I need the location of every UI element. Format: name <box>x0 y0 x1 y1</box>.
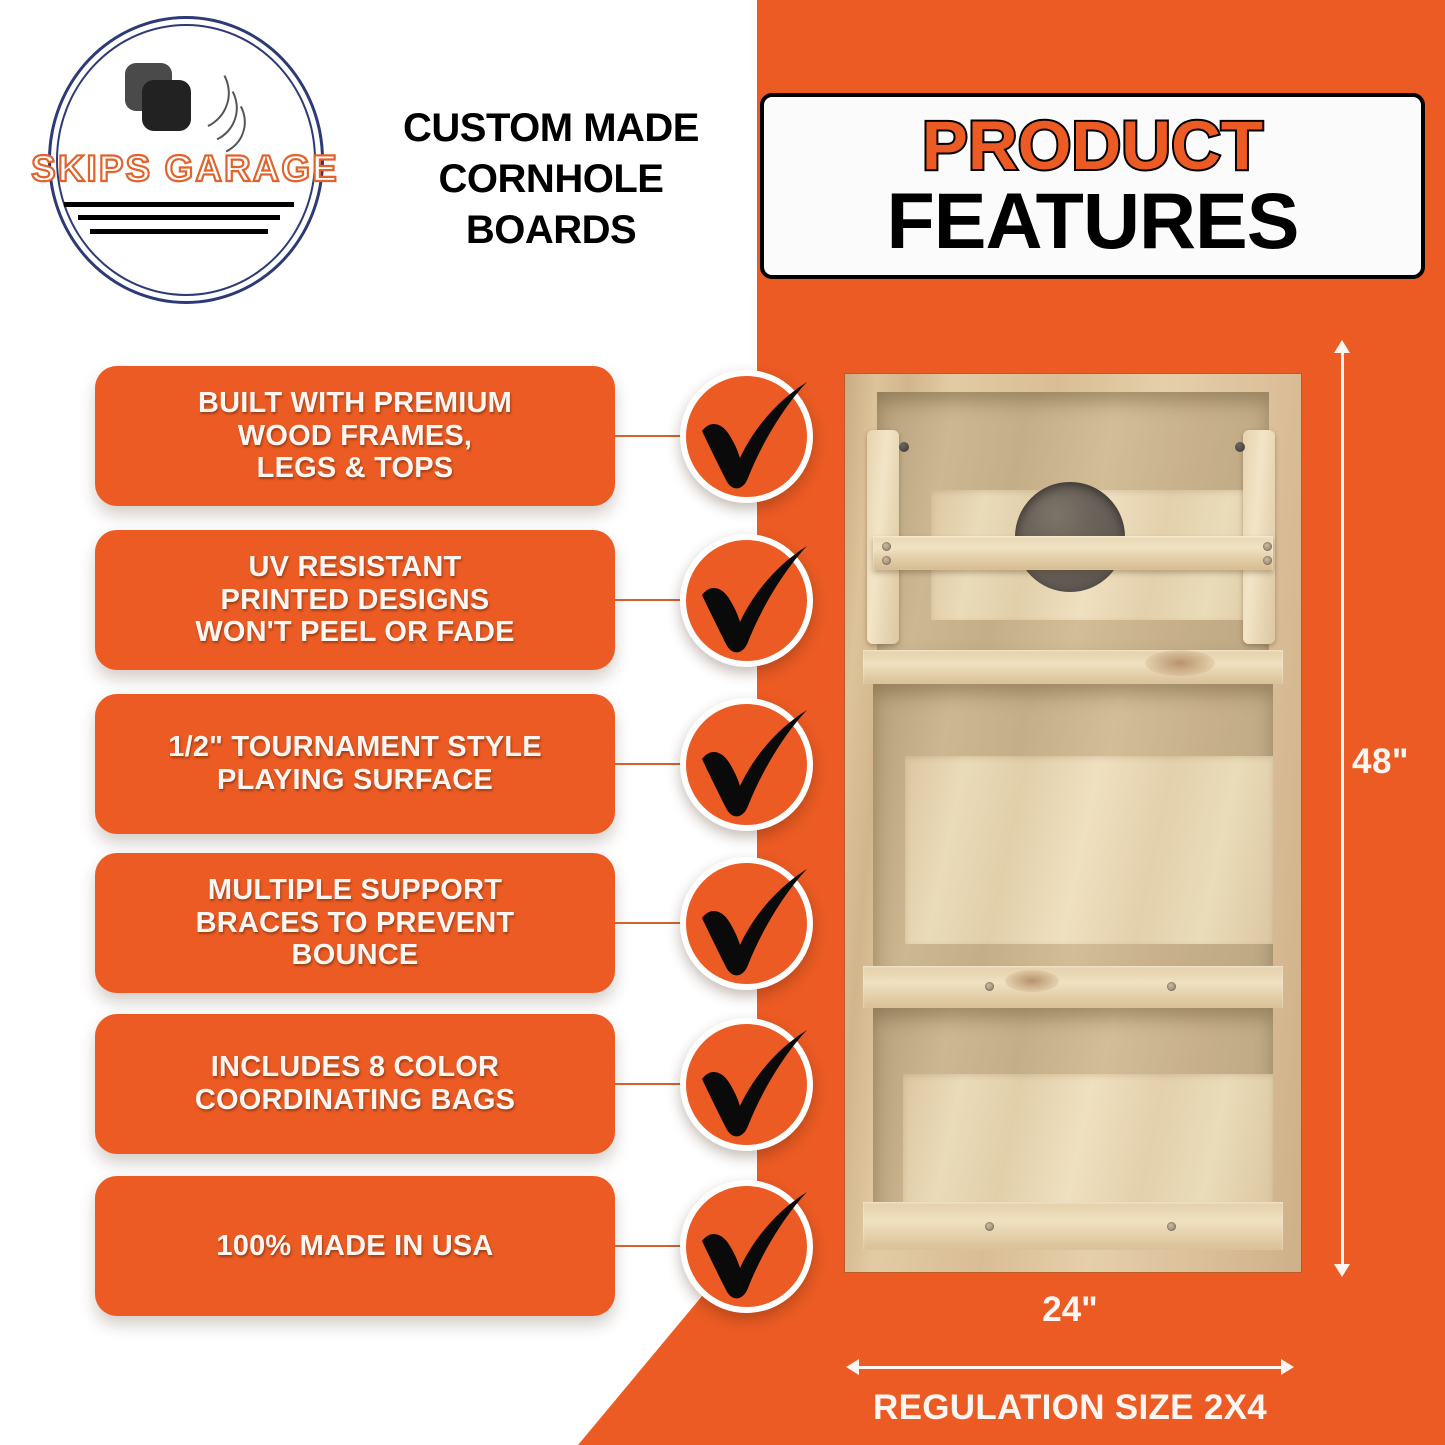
feature-pill: INCLUDES 8 COLORCOORDINATING BAGS <box>95 1014 615 1154</box>
check-icon <box>680 698 813 831</box>
logo-rule <box>78 215 280 220</box>
check-icon <box>680 534 813 667</box>
leg-bolt-right <box>1235 442 1245 452</box>
brace-screw <box>1167 982 1176 991</box>
feature-pill: UV RESISTANTPRINTED DESIGNSWON'T PEEL OR… <box>95 530 615 670</box>
check-icon <box>680 1018 813 1151</box>
width-dimension-arrow <box>858 1366 1282 1369</box>
page-title: CUSTOM MADE CORNHOLE BOARDS <box>352 103 750 257</box>
feature-row: INCLUDES 8 COLORCOORDINATING BAGS <box>0 1014 840 1154</box>
heading-features: FEATURES <box>887 182 1299 260</box>
brace-screw <box>985 982 994 991</box>
brace-screw <box>985 1222 994 1231</box>
feature-check-badge <box>680 1018 813 1151</box>
feature-pill: 1/2" TOURNAMENT STYLEPLAYING SURFACE <box>95 694 615 834</box>
support-brace-bottom <box>863 1202 1283 1250</box>
brace-screw <box>1263 542 1272 551</box>
page-title-line-2: CORNHOLE <box>352 154 750 205</box>
wood-knot <box>1005 970 1059 992</box>
feature-check-badge <box>680 1180 813 1313</box>
product-features-heading-box: PRODUCT FEATURES <box>760 93 1425 279</box>
check-icon <box>680 1180 813 1313</box>
board-middle-panel <box>905 756 1273 944</box>
logo-wordmark: SKIPS GARAGE <box>20 148 350 190</box>
brand-logo: SKIPS GARAGE <box>20 8 350 308</box>
feature-row: MULTIPLE SUPPORTBRACES TO PREVENTBOUNCE <box>0 853 840 993</box>
height-dimension-arrow <box>1341 352 1344 1265</box>
check-icon <box>680 370 813 503</box>
height-dimension-label: 48" <box>1352 742 1409 782</box>
infographic-canvas: SKIPS GARAGE CUSTOM MADE CORNHOLE BOARDS… <box>0 0 1445 1445</box>
check-icon <box>680 857 813 990</box>
support-brace-top <box>873 536 1273 570</box>
page-title-line-1: CUSTOM MADE <box>352 103 750 154</box>
heading-product: PRODUCT <box>922 112 1263 180</box>
feature-check-badge <box>680 857 813 990</box>
leg-bolt-left <box>899 442 909 452</box>
brace-screw <box>1263 556 1272 565</box>
feature-check-badge <box>680 370 813 503</box>
brace-screw <box>882 556 891 565</box>
board-bottom-panel <box>903 1074 1273 1204</box>
page-title-line-3: BOARDS <box>352 205 750 256</box>
product-photo-cornhole-board <box>845 374 1301 1272</box>
board-rail-top <box>863 650 1283 684</box>
brace-screw <box>1167 1222 1176 1231</box>
feature-row: 1/2" TOURNAMENT STYLEPLAYING SURFACE <box>0 694 840 834</box>
feature-pill: 100% MADE IN USA <box>95 1176 615 1316</box>
feature-pill: MULTIPLE SUPPORTBRACES TO PREVENTBOUNCE <box>95 853 615 993</box>
feature-check-badge <box>680 698 813 831</box>
logo-rule <box>64 202 294 207</box>
feature-check-badge <box>680 534 813 667</box>
logo-rule <box>90 229 268 234</box>
feature-row: 100% MADE IN USA <box>0 1176 840 1316</box>
regulation-size-note: REGULATION SIZE 2X4 <box>835 1388 1305 1428</box>
feature-row: BUILT WITH PREMIUMWOOD FRAMES,LEGS & TOP… <box>0 366 840 506</box>
width-dimension-label: 24" <box>858 1290 1282 1330</box>
feature-row: UV RESISTANTPRINTED DESIGNSWON'T PEEL OR… <box>0 530 840 670</box>
wood-knot <box>1145 650 1215 676</box>
support-brace-middle <box>863 966 1283 1008</box>
brace-screw <box>882 542 891 551</box>
feature-pill: BUILT WITH PREMIUMWOOD FRAMES,LEGS & TOP… <box>95 366 615 506</box>
